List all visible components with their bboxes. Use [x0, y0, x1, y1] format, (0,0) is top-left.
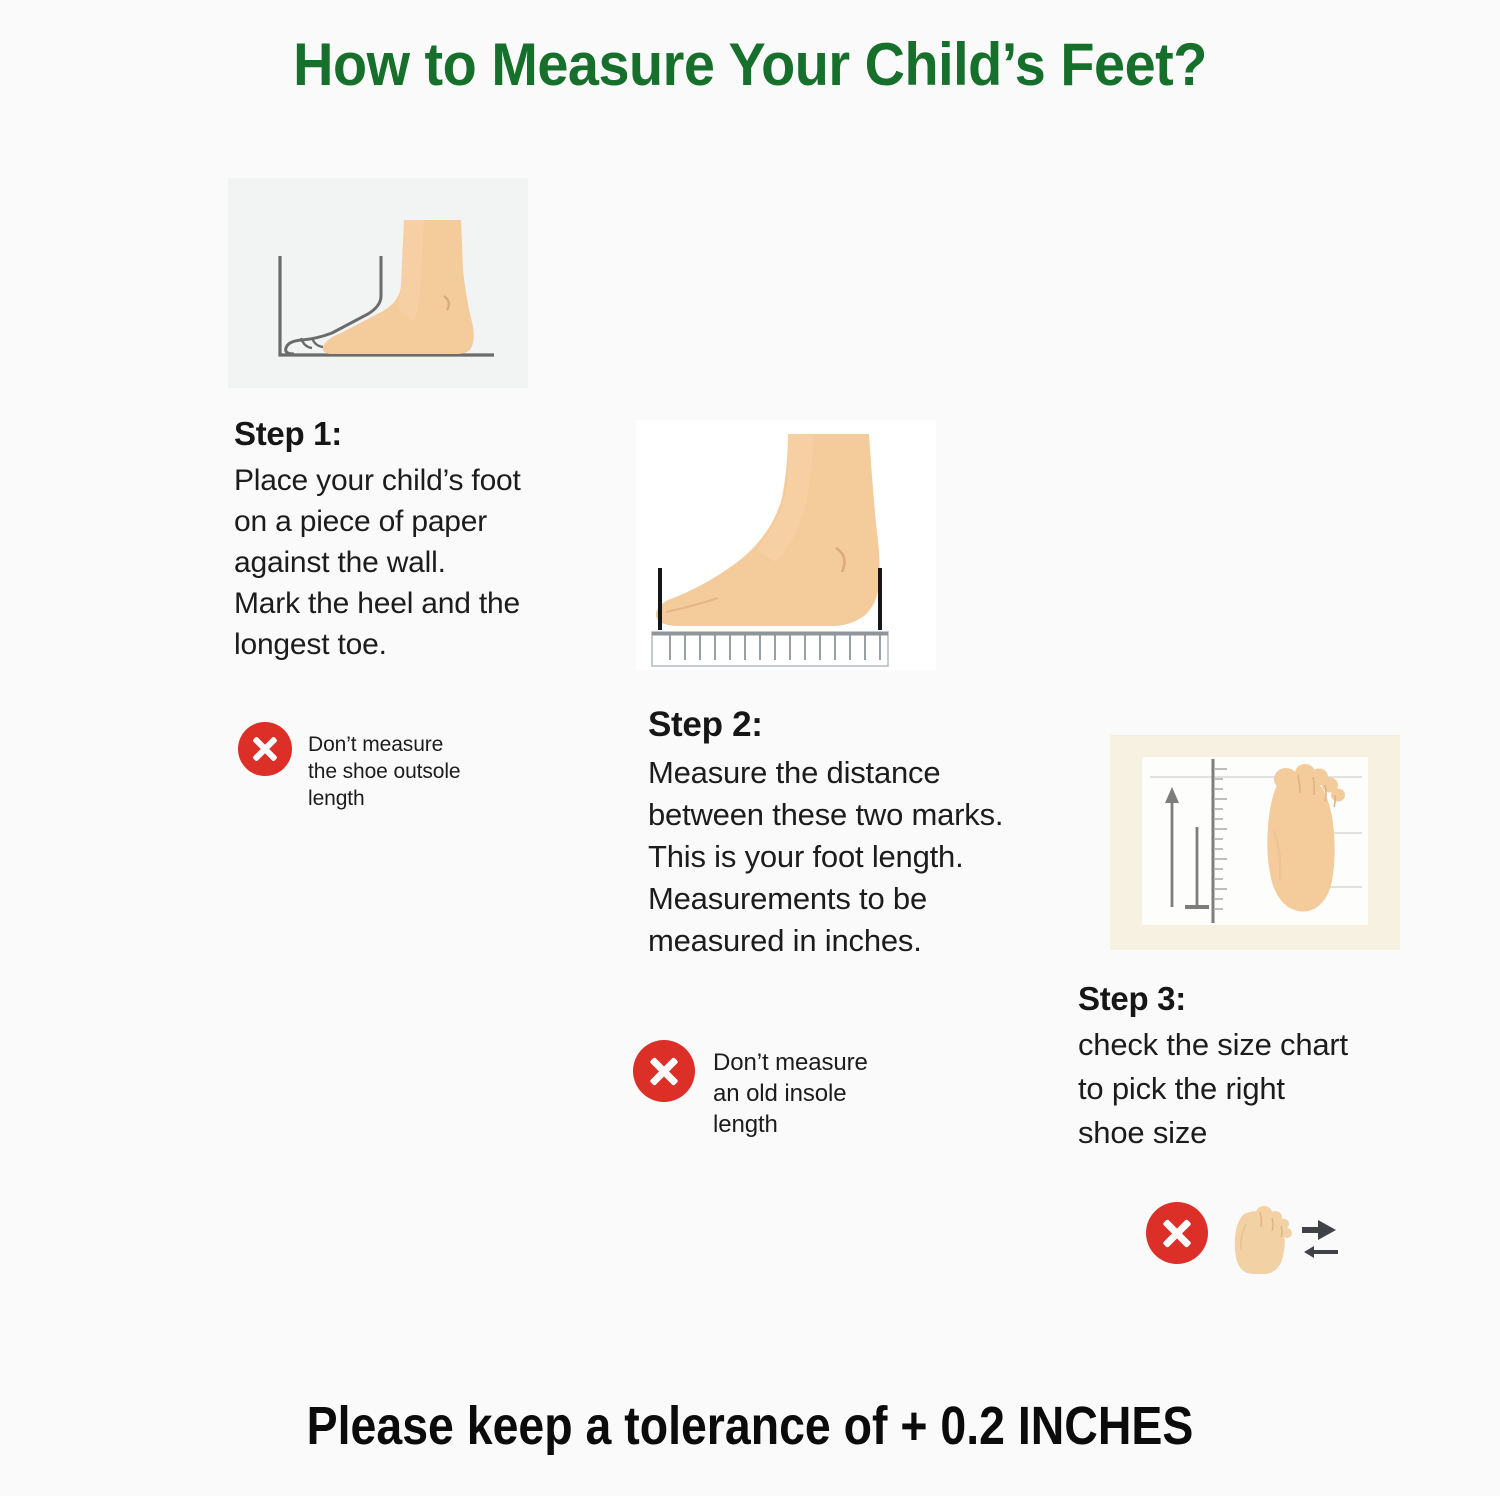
step2-line-2: between these two marks.: [648, 794, 1078, 836]
warning2-row: Don’t measure an old insole length: [633, 1040, 868, 1140]
measure-direction-arrows-icon: [1300, 1210, 1342, 1270]
foot-side-profile-against-wall-icon: [228, 178, 528, 388]
foot-sole-on-measuring-card-icon: [1110, 735, 1400, 950]
step3-line-1: check the size chart: [1078, 1023, 1418, 1067]
foot-on-ruler-icon: [636, 420, 936, 670]
step1-body: Place your child’s foot on a piece of pa…: [234, 460, 564, 665]
warning2-line-1: Don’t measure: [713, 1047, 868, 1078]
step2-line-4: Measurements to be: [648, 878, 1078, 920]
red-x-circle-icon: [238, 722, 292, 776]
warning2-line-3: length: [713, 1109, 868, 1140]
step1-illustration-panel: [228, 178, 528, 388]
step2-text-block: Step 2: Measure the distance between the…: [648, 702, 1078, 962]
step3-line-3: shoe size: [1078, 1111, 1418, 1155]
left-arrow-icon: [1304, 1246, 1338, 1258]
tolerance-note: Please keep a tolerance of + 0.2 INCHES: [105, 1395, 1395, 1457]
step3-illustration-panel: [1110, 735, 1400, 950]
warning1-line-2: the shoe outsole: [308, 758, 461, 785]
red-x-circle-icon: [1146, 1202, 1208, 1264]
step2-line-1: Measure the distance: [648, 752, 1078, 794]
warning1-line-1: Don’t measure: [308, 731, 461, 758]
right-arrow-icon: [1302, 1220, 1336, 1240]
step2-line-5: measured in inches.: [648, 920, 1078, 962]
warning3-row: [1146, 1202, 1342, 1276]
infographic-page: How to Measure Your Child’s Feet? Step 1…: [0, 0, 1500, 1496]
step2-body: Measure the distance between these two m…: [648, 752, 1078, 962]
step1-line-2: on a piece of paper: [234, 501, 564, 542]
warning1-row: Don’t measure the shoe outsole length: [238, 722, 461, 812]
step2-line-3: This is your foot length.: [648, 836, 1078, 878]
step3-heading: Step 3:: [1078, 977, 1418, 1021]
step3-body: check the size chart to pick the right s…: [1078, 1023, 1418, 1155]
heel-mark: [878, 568, 882, 630]
toe-mark: [658, 568, 662, 630]
foot-sole-icon: [1230, 1202, 1292, 1276]
step1-heading: Step 1:: [234, 412, 564, 456]
step2-illustration-panel: [636, 420, 936, 670]
step3-text-block: Step 3: check the size chart to pick the…: [1078, 977, 1418, 1155]
warning1-text: Don’t measure the shoe outsole length: [308, 722, 461, 812]
step2-heading: Step 2:: [648, 702, 1078, 748]
step3-line-2: to pick the right: [1078, 1067, 1418, 1111]
red-x-circle-icon: [633, 1040, 695, 1102]
step1-text-block: Step 1: Place your child’s foot on a pie…: [234, 412, 564, 665]
page-title: How to Measure Your Child’s Feet?: [53, 30, 1448, 99]
step1-line-4: Mark the heel and the: [234, 583, 564, 624]
step1-line-3: against the wall.: [234, 542, 564, 583]
warning2-line-2: an old insole: [713, 1078, 868, 1109]
warning1-line-3: length: [308, 785, 461, 812]
warning2-text: Don’t measure an old insole length: [713, 1040, 868, 1140]
step1-line-5: longest toe.: [234, 624, 564, 665]
step1-line-1: Place your child’s foot: [234, 460, 564, 501]
